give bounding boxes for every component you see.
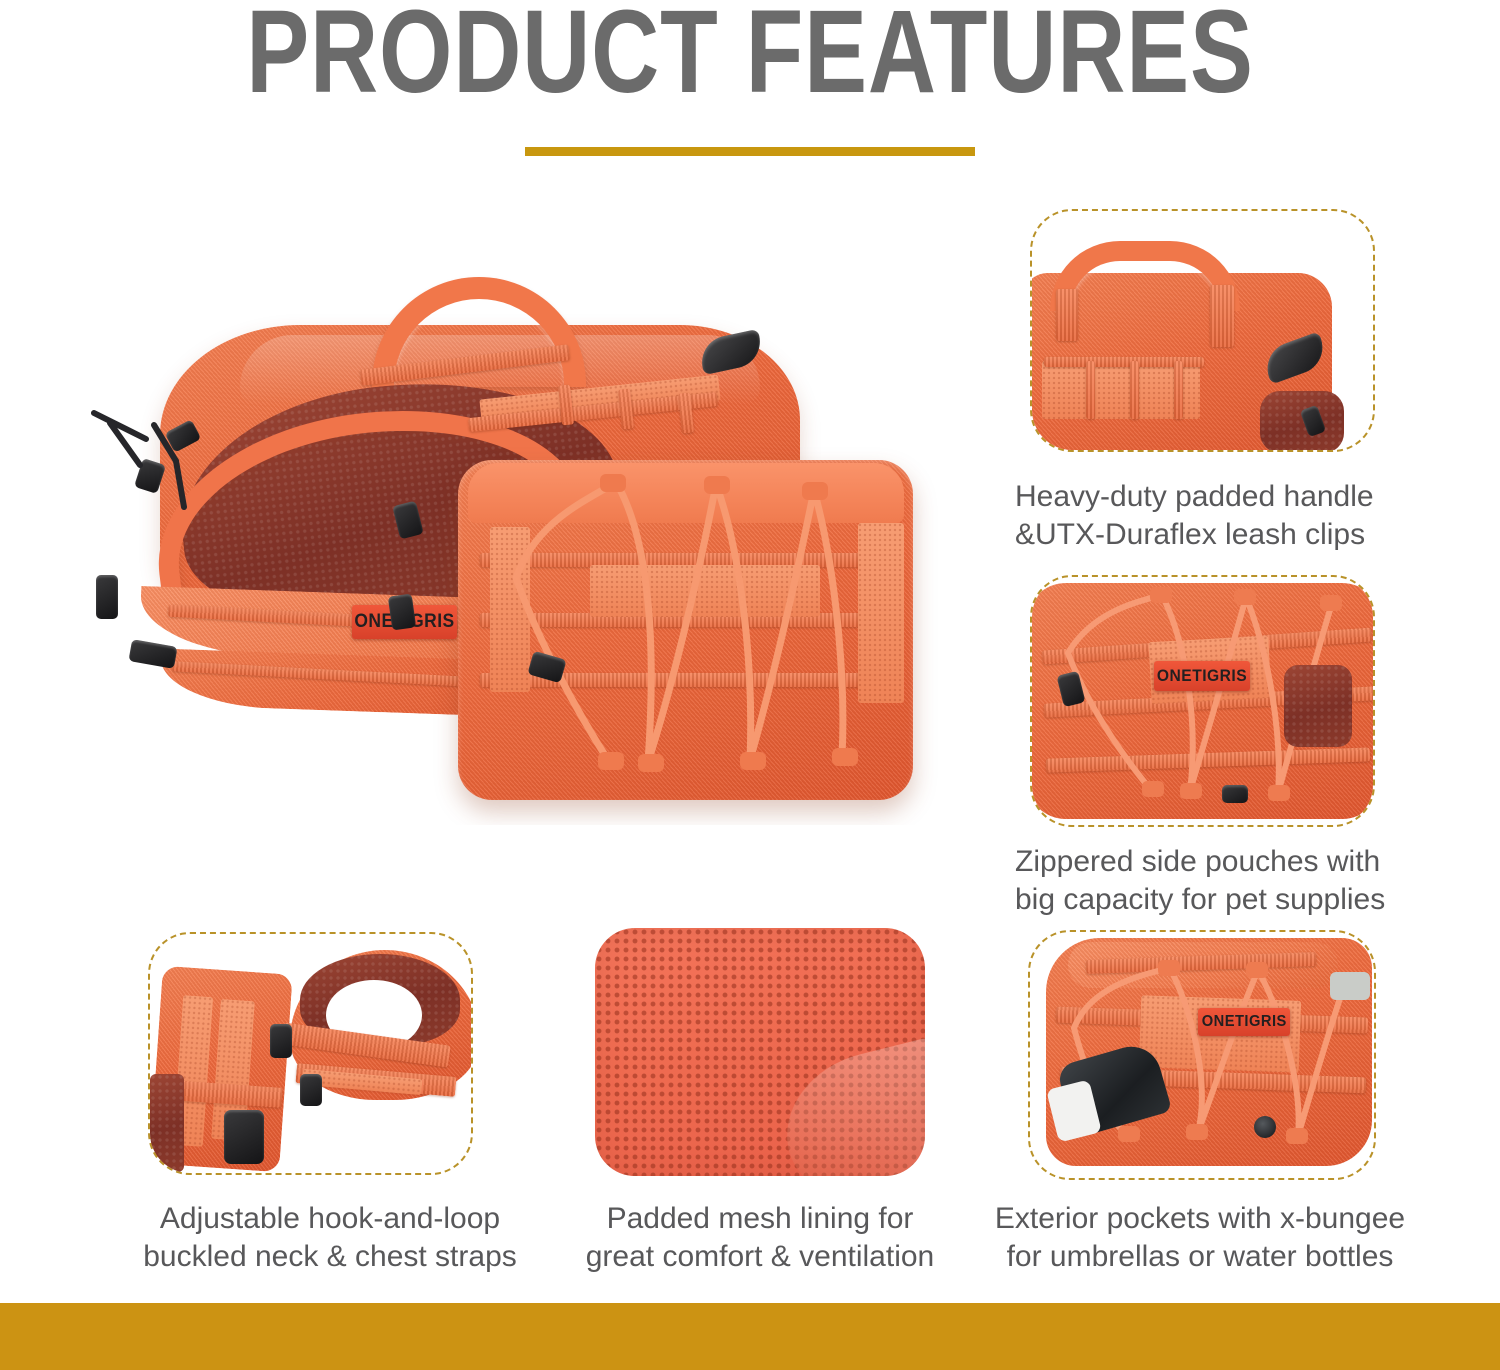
panel-neck-chest-straps-image <box>150 934 471 1173</box>
x-bungee-cord <box>1030 932 1374 1178</box>
footer-gold-bar <box>0 1303 1500 1370</box>
panel-mesh-lining-caption: Padded mesh lining for great comfort & v… <box>560 1200 960 1276</box>
buckle-hardware <box>1330 972 1370 1000</box>
x-bungee-cord <box>458 460 913 800</box>
caption-line-1: Heavy-duty padded handle <box>1015 478 1395 516</box>
hero-product-image: ONETIGRIS <box>60 265 940 825</box>
caption-line-2: &UTX-Duraflex leash clips <box>1015 516 1395 554</box>
onetigris-patch-label: ONETIGRIS <box>1201 1013 1286 1031</box>
panel-handle-clips-caption: Heavy-duty padded handle &UTX-Duraflex l… <box>1015 478 1395 554</box>
side-release-buckle <box>300 1074 322 1106</box>
caption-line-1: Adjustable hook-and-loop <box>110 1200 550 1238</box>
cord-lock <box>388 593 416 630</box>
cord-lock <box>1222 785 1248 803</box>
drawstring-cords <box>80 395 240 535</box>
panel-exterior-pockets-caption: Exterior pockets with x-bungee for umbre… <box>990 1200 1410 1276</box>
caption-line-2: big capacity for pet supplies <box>1015 881 1395 919</box>
side-release-buckle <box>224 1110 264 1164</box>
onetigris-patch: ONETIGRIS <box>1154 661 1250 691</box>
caption-line-1: Padded mesh lining for <box>560 1200 960 1238</box>
caption-line-1: Exterior pockets with x-bungee <box>990 1200 1410 1238</box>
side-buckle <box>128 639 177 669</box>
panel-side-pouches-caption: Zippered side pouches with big capacity … <box>1015 843 1395 919</box>
panel-exterior-pockets-image: ONETIGRIS <box>1030 932 1374 1178</box>
panel-side-pouches-image: ONETIGRIS <box>1032 577 1373 825</box>
caption-line-2: for umbrellas or water bottles <box>990 1238 1410 1276</box>
panel-handle-clips-image <box>1032 211 1373 450</box>
panel-mesh-lining-image <box>595 928 925 1176</box>
caption-line-2: great comfort & ventilation <box>560 1238 960 1276</box>
caption-line-2: buckled neck & chest straps <box>110 1238 550 1276</box>
title-underline-rule <box>525 147 975 156</box>
onetigris-patch-label: ONETIGRIS <box>1157 666 1247 686</box>
side-release-buckle <box>270 1024 292 1058</box>
onetigris-patch: ONETIGRIS <box>1198 1008 1290 1036</box>
grommet-icon <box>1254 1116 1276 1138</box>
product-features-infographic: PRODUCT FEATURES <box>0 0 1500 1370</box>
side-buckle <box>96 575 118 619</box>
panel-neck-chest-straps-caption: Adjustable hook-and-loop buckled neck & … <box>110 1200 550 1276</box>
page-title: PRODUCT FEATURES <box>150 0 1350 112</box>
caption-line-1: Zippered side pouches with <box>1015 843 1395 881</box>
